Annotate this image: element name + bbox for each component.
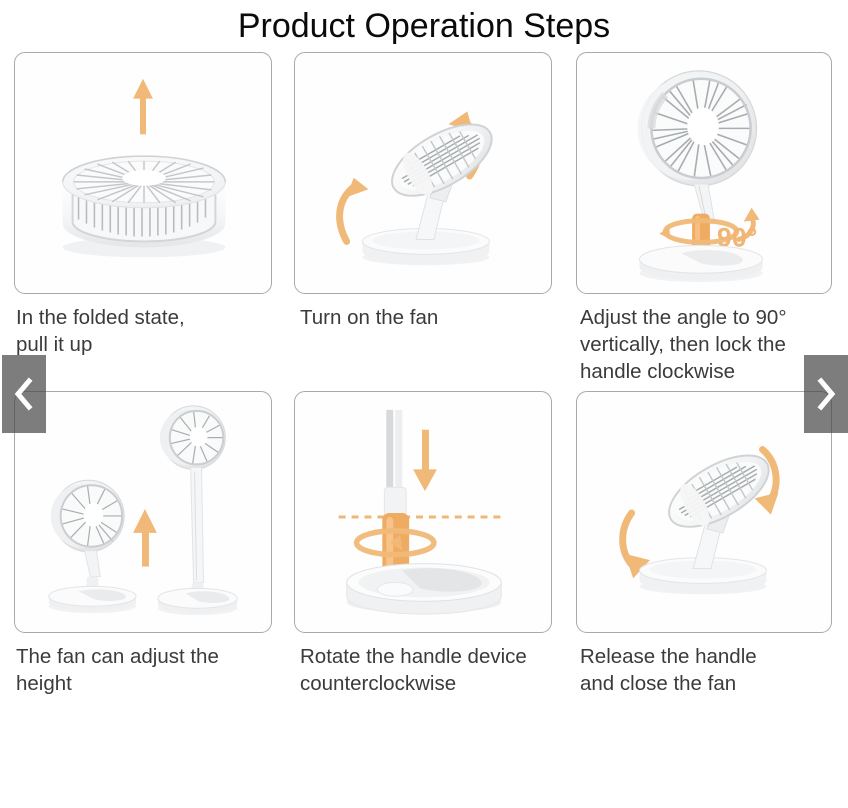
step-caption-1: In the folded state, pull it up — [14, 304, 272, 358]
page-title: Product Operation Steps — [0, 0, 848, 50]
step-cell-1: In the folded state, pull it up — [0, 52, 282, 385]
step-cell-5: Rotate the handle device counterclockwis… — [282, 391, 564, 697]
step-card-1[interactable] — [14, 52, 272, 294]
step-card-5[interactable] — [294, 391, 552, 633]
step-cell-2: Turn on the fan — [282, 52, 564, 385]
step-illustration-4 — [15, 392, 271, 632]
step-card-3[interactable]: 90° — [576, 52, 832, 294]
fan-head — [638, 71, 757, 186]
carousel-next-button[interactable] — [804, 355, 848, 433]
step-card-2[interactable] — [294, 52, 552, 294]
arrow-up-icon — [133, 509, 157, 567]
step-illustration-5 — [295, 392, 551, 632]
step-illustration-6 — [577, 392, 831, 632]
step-cell-6: Release the handle and close the fan — [564, 391, 846, 697]
arrow-curve-up-left-icon — [340, 174, 369, 241]
steps-row-1: In the folded state, pull it up — [0, 52, 848, 385]
carousel-prev-button[interactable] — [2, 355, 46, 433]
step-card-6[interactable] — [576, 391, 832, 633]
step-caption-5: Rotate the handle device counterclockwis… — [294, 643, 552, 697]
step-cell-3: 90° Adjust the angle to 90° vertically, … — [564, 52, 846, 385]
step-caption-3: Adjust the angle to 90° vertically, then… — [576, 304, 832, 385]
arrow-up-icon — [133, 79, 153, 135]
steps-grid: In the folded state, pull it up — [0, 52, 848, 703]
arrow-down-icon — [413, 430, 437, 491]
telescopic-pole — [384, 410, 406, 521]
fan-tall — [158, 406, 237, 615]
steps-row-2: The fan can adjust the height — [0, 391, 848, 697]
step-illustration-3: 90° — [577, 53, 831, 293]
fan-short — [49, 480, 136, 613]
step-cell-4: The fan can adjust the height — [0, 391, 282, 697]
step-illustration-1 — [15, 53, 271, 293]
step-caption-2: Turn on the fan — [294, 304, 552, 331]
step-card-4[interactable] — [14, 391, 272, 633]
chevron-right-icon — [816, 377, 836, 411]
step-caption-4: The fan can adjust the height — [14, 643, 272, 697]
chevron-left-icon — [14, 377, 34, 411]
step-caption-6: Release the handle and close the fan — [576, 643, 832, 697]
step-illustration-2 — [295, 53, 551, 293]
